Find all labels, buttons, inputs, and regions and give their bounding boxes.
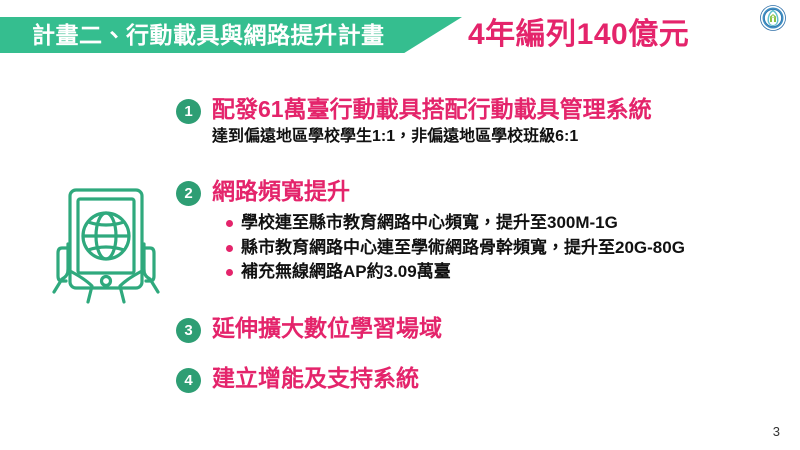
bullet-dot-icon <box>226 220 233 227</box>
bullet-dot-icon <box>226 245 233 252</box>
item-body: 網路頻寬提升 學校連至縣市教育網路中心頻寬，提升至300M-1G 縣市教育網路中… <box>212 178 786 285</box>
item-subtitle: 達到偏遠地區學校學生1:1，非偏遠地區學校班級6:1 <box>212 127 786 148</box>
item-title: 網路頻寬提升 <box>212 178 786 205</box>
item-number-badge: 2 <box>176 181 201 206</box>
bullet-text: 縣市教育網路中心連至學術網路骨幹頻寬，提升至20G-80G <box>241 238 685 257</box>
moe-seal-icon <box>760 5 786 31</box>
bullet-dot-icon <box>226 269 233 276</box>
list-item: 2 網路頻寬提升 學校連至縣市教育網路中心頻寬，提升至300M-1G 縣市教育網… <box>176 178 786 285</box>
header-budget-text: 4年編列140億元 <box>468 16 689 54</box>
slide-canvas: 計畫二、行動載具與網路提升計畫 4年編列140億元 <box>0 0 800 450</box>
spacer <box>176 148 786 178</box>
list-item: 4 建立增能及支持系統 <box>176 365 786 393</box>
bullet-item: 學校連至縣市教育網路中心頻寬，提升至300M-1G <box>226 211 786 236</box>
item-body: 配發61萬臺行動載具搭配行動載具管理系統 達到偏遠地區學校學生1:1，非偏遠地區… <box>212 96 786 148</box>
bullet-text: 補充無線網路AP約3.09萬臺 <box>241 262 451 281</box>
item-title: 延伸擴大數位學習場域 <box>212 315 786 342</box>
items-list: 1 配發61萬臺行動載具搭配行動載具管理系統 達到偏遠地區學校學生1:1，非偏遠… <box>176 96 786 393</box>
bullet-item: 補充無線網路AP約3.09萬臺 <box>226 260 786 285</box>
spacer <box>176 343 786 365</box>
tablet-globe-hands-icon <box>40 180 172 308</box>
spacer <box>176 285 786 315</box>
bullet-text: 學校連至縣市教育網路中心頻寬，提升至300M-1G <box>241 213 618 232</box>
item-title: 建立增能及支持系統 <box>212 365 786 392</box>
list-item: 3 延伸擴大數位學習場域 <box>176 315 786 343</box>
item-body: 延伸擴大數位學習場域 <box>212 315 786 342</box>
bullet-list: 學校連至縣市教育網路中心頻寬，提升至300M-1G 縣市教育網路中心連至學術網路… <box>212 211 786 285</box>
item-title: 配發61萬臺行動載具搭配行動載具管理系統 <box>212 96 786 123</box>
header-banner-title: 計畫二、行動載具與網路提升計畫 <box>32 24 385 47</box>
item-number-badge: 1 <box>176 99 201 124</box>
item-number-badge: 3 <box>176 318 201 343</box>
list-item: 1 配發61萬臺行動載具搭配行動載具管理系統 達到偏遠地區學校學生1:1，非偏遠… <box>176 96 786 148</box>
bullet-item: 縣市教育網路中心連至學術網路骨幹頻寬，提升至20G-80G <box>226 236 786 261</box>
item-body: 建立增能及支持系統 <box>212 365 786 392</box>
page-number: 3 <box>773 425 780 438</box>
header-banner: 計畫二、行動載具與網路提升計畫 <box>0 17 462 53</box>
item-number-badge: 4 <box>176 368 201 393</box>
